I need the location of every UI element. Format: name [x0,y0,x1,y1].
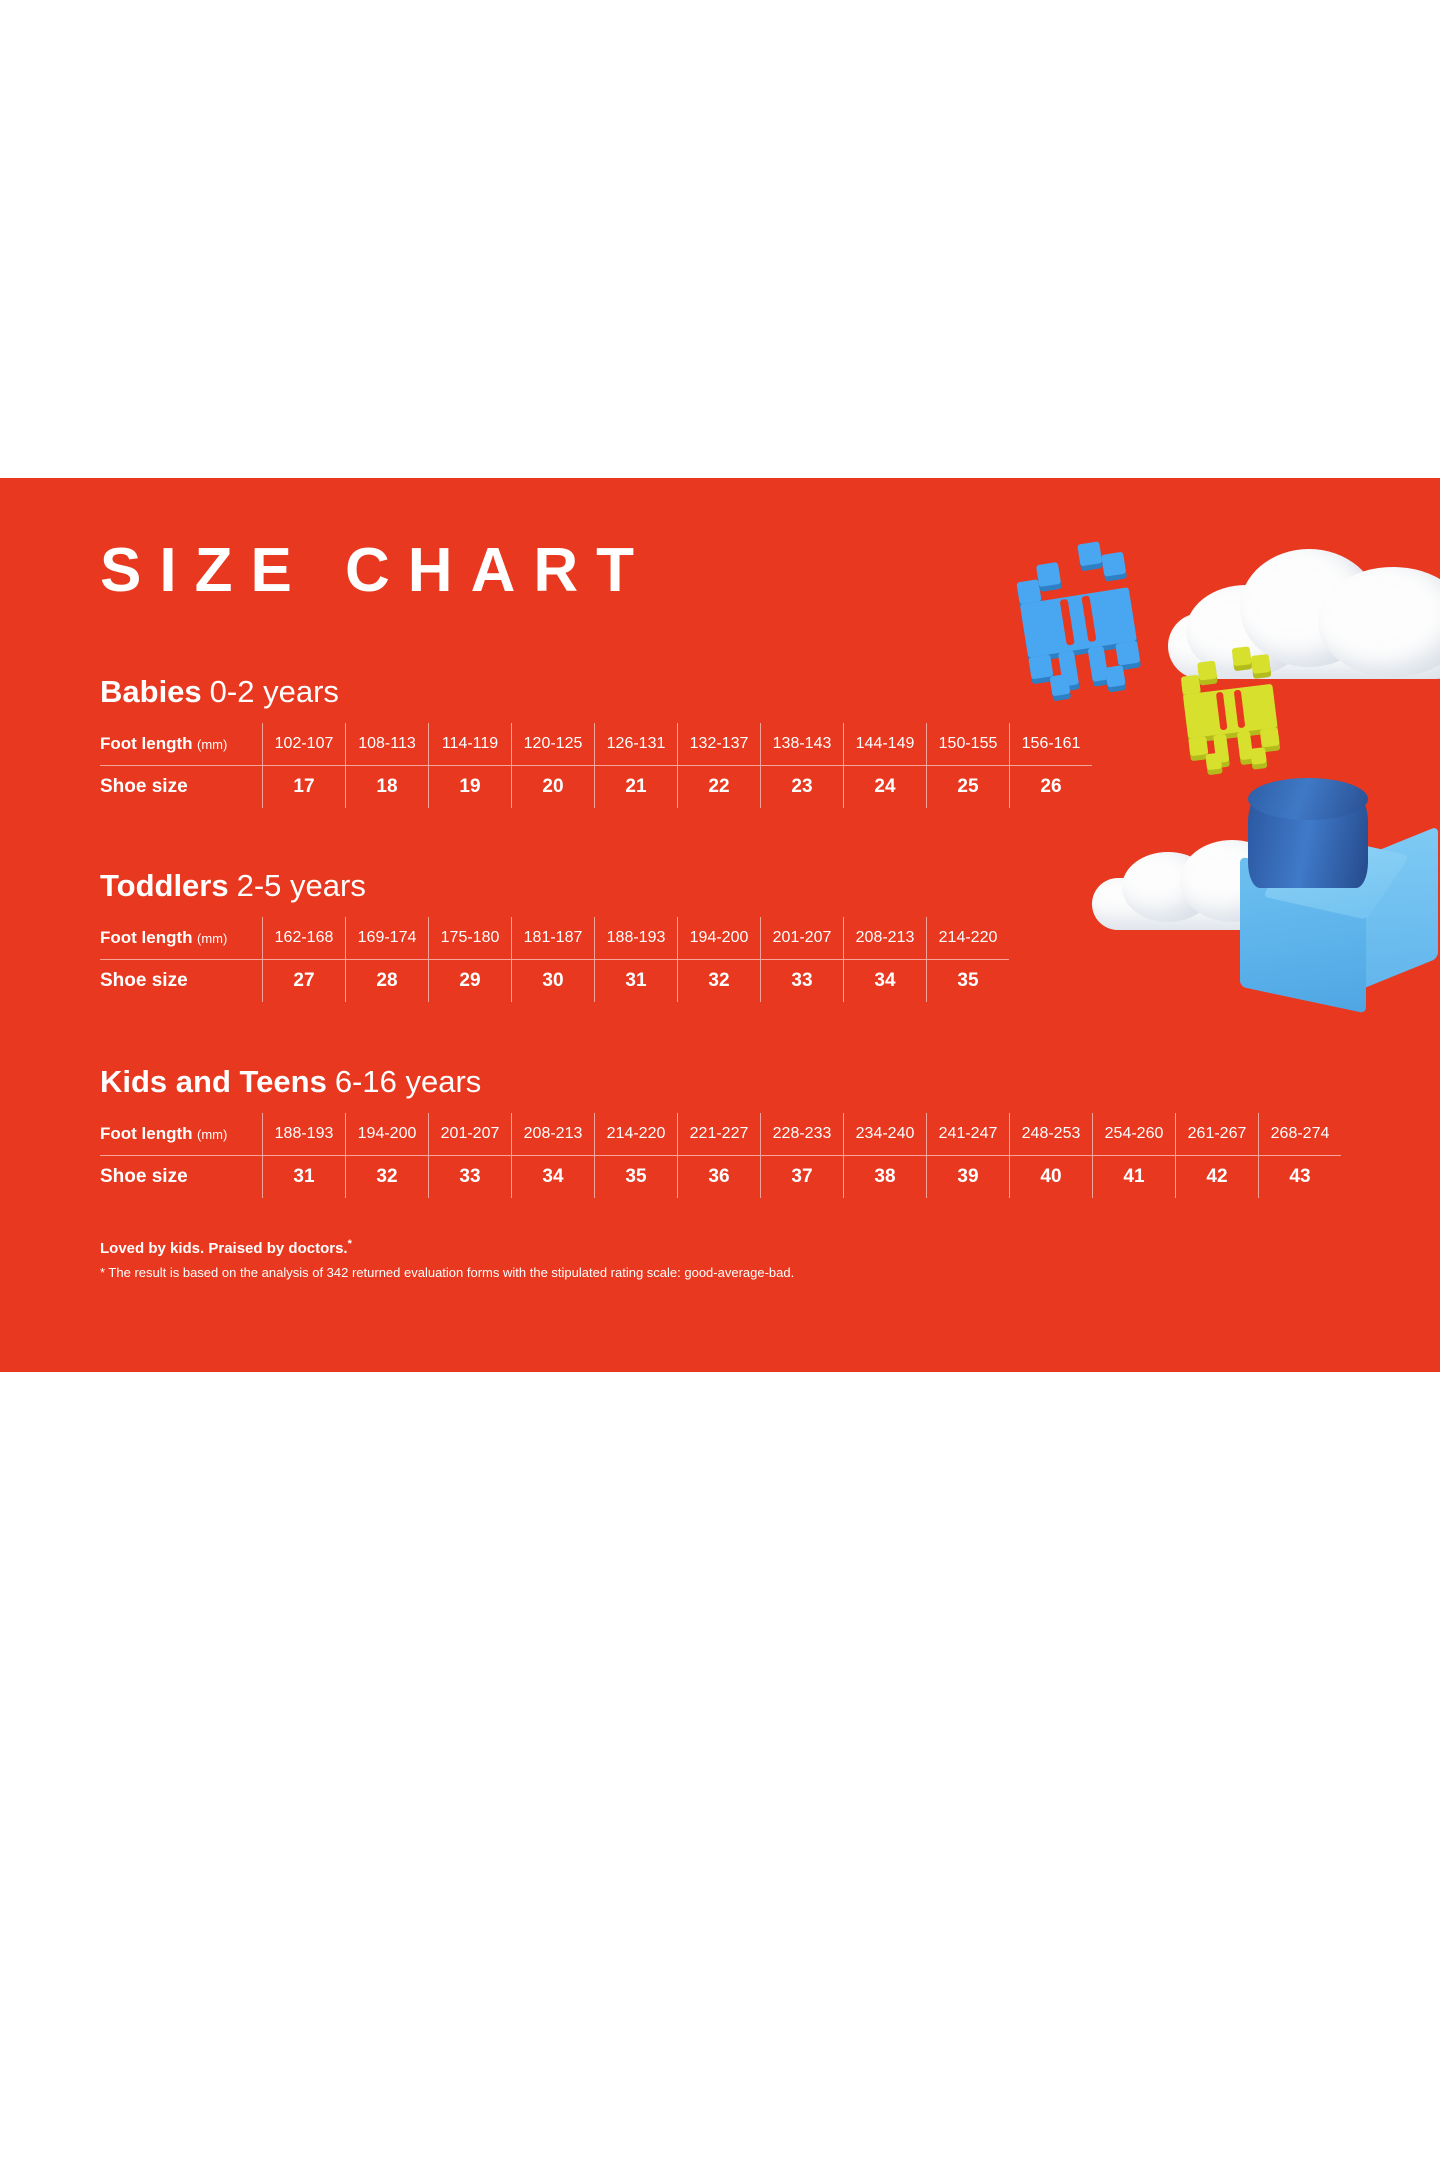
size-table-kids-and-teens: Foot length (mm) 188-193 194-200 201-207… [100,1113,1341,1198]
cell-foot-length: 175-180 [429,917,512,960]
cell-shoe-size: 34 [844,960,927,1003]
cell-foot-length: 228-233 [761,1113,844,1156]
row-label-shoe-size-text: Shoe size [100,776,188,797]
cell-foot-length: 214-220 [595,1113,678,1156]
cell-shoe-size: 31 [263,1156,346,1199]
cell-foot-length: 169-174 [346,917,429,960]
cell-shoe-size: 17 [263,766,346,809]
row-label-foot-length-text: Foot length [100,734,193,753]
footer-claim-text: Loved by kids. Praised by doctors. [100,1240,348,1257]
row-label-foot-length-text: Foot length [100,928,193,947]
section-kids-and-teens: Kids and Teens6-16 years Foot length (mm… [100,1066,1341,1198]
cell-foot-length: 194-200 [346,1113,429,1156]
cell-foot-length: 132-137 [678,723,761,766]
section-group-name: Kids and Teens [100,1064,327,1099]
cell-shoe-size: 32 [346,1156,429,1199]
cell-shoe-size: 32 [678,960,761,1003]
row-label-shoe-size: Shoe size [100,1156,263,1199]
section-heading-babies: Babies0-2 years [100,676,1092,707]
cell-shoe-size: 28 [346,960,429,1003]
section-age-range: 2-5 years [237,868,366,903]
cell-foot-length: 201-207 [429,1113,512,1156]
section-toddlers: Toddlers2-5 years Foot length (mm) 162-1… [100,870,1009,1002]
cell-shoe-size: 23 [761,766,844,809]
cell-foot-length: 221-227 [678,1113,761,1156]
cell-shoe-size: 27 [263,960,346,1003]
section-heading-kids-and-teens: Kids and Teens6-16 years [100,1066,1341,1097]
cell-shoe-size: 37 [761,1156,844,1199]
section-babies: Babies0-2 years Foot length (mm) 102-107… [100,676,1092,808]
footer-claim: Loved by kids. Praised by doctors.* [100,1238,794,1258]
cell-foot-length: 120-125 [512,723,595,766]
cell-shoe-size: 33 [429,1156,512,1199]
cell-foot-length: 248-253 [1010,1113,1093,1156]
row-label-foot-length-text: Foot length [100,1124,193,1143]
cell-shoe-size: 29 [429,960,512,1003]
row-label-shoe-size: Shoe size [100,960,263,1003]
row-label-foot-length: Foot length (mm) [100,1113,263,1156]
cell-shoe-size: 25 [927,766,1010,809]
table-row-shoe-size: Shoe size 17 18 19 20 21 22 23 24 25 26 [100,766,1092,809]
cell-foot-length: 162-168 [263,917,346,960]
cell-foot-length: 254-260 [1093,1113,1176,1156]
cell-foot-length: 201-207 [761,917,844,960]
section-group-name: Toddlers [100,868,229,903]
cell-shoe-size: 35 [595,1156,678,1199]
cell-shoe-size: 20 [512,766,595,809]
cell-foot-length: 126-131 [595,723,678,766]
cell-shoe-size: 26 [1010,766,1093,809]
size-table-babies: Foot length (mm) 102-107 108-113 114-119… [100,723,1092,808]
row-label-shoe-size-text: Shoe size [100,1166,188,1187]
table-row-shoe-size: Shoe size 27 28 29 30 31 32 33 34 35 [100,960,1009,1003]
row-label-shoe-size-text: Shoe size [100,970,188,991]
table-row-foot-length: Foot length (mm) 102-107 108-113 114-119… [100,723,1092,766]
footer-note: * The result is based on the analysis of… [100,1265,794,1281]
cell-foot-length: 214-220 [927,917,1010,960]
cell-foot-length: 208-213 [512,1113,595,1156]
cell-foot-length: 194-200 [678,917,761,960]
cell-foot-length: 108-113 [346,723,429,766]
cell-shoe-size: 40 [1010,1156,1093,1199]
cell-foot-length: 138-143 [761,723,844,766]
footer: Loved by kids. Praised by doctors.* * Th… [100,1238,794,1281]
cell-foot-length: 208-213 [844,917,927,960]
section-heading-toddlers: Toddlers2-5 years [100,870,1009,901]
cell-foot-length: 181-187 [512,917,595,960]
cell-shoe-size: 43 [1259,1156,1342,1199]
cell-shoe-size: 36 [678,1156,761,1199]
cell-shoe-size: 34 [512,1156,595,1199]
cell-foot-length: 144-149 [844,723,927,766]
row-label-foot-length: Foot length (mm) [100,917,263,960]
section-group-name: Babies [100,674,202,709]
cell-foot-length: 234-240 [844,1113,927,1156]
cell-shoe-size: 22 [678,766,761,809]
row-label-foot-length: Foot length (mm) [100,723,263,766]
row-label-shoe-size: Shoe size [100,766,263,809]
table-row-foot-length: Foot length (mm) 162-168 169-174 175-180… [100,917,1009,960]
cell-shoe-size: 31 [595,960,678,1003]
cell-foot-length: 150-155 [927,723,1010,766]
cell-foot-length: 156-161 [1010,723,1093,766]
cell-foot-length: 261-267 [1176,1113,1259,1156]
cell-foot-length: 241-247 [927,1113,1010,1156]
cell-foot-length: 268-274 [1259,1113,1342,1156]
cloud-bottom-icon [1092,838,1322,934]
row-label-foot-length-unit: (mm) [197,1127,227,1142]
row-label-foot-length-unit: (mm) [197,737,227,752]
cloud-top-icon [1168,547,1440,682]
cell-shoe-size: 24 [844,766,927,809]
cell-shoe-size: 35 [927,960,1010,1003]
cell-shoe-size: 19 [429,766,512,809]
cell-shoe-size: 30 [512,960,595,1003]
cell-shoe-size: 21 [595,766,678,809]
row-label-foot-length-unit: (mm) [197,931,227,946]
footer-claim-marker: * [348,1238,352,1250]
section-age-range: 0-2 years [210,674,339,709]
cell-shoe-size: 33 [761,960,844,1003]
cell-foot-length: 102-107 [263,723,346,766]
section-age-range: 6-16 years [335,1064,481,1099]
table-row-shoe-size: Shoe size 31 32 33 34 35 36 37 38 39 40 … [100,1156,1341,1199]
cell-foot-length: 188-193 [263,1113,346,1156]
cell-shoe-size: 18 [346,766,429,809]
size-table-toddlers: Foot length (mm) 162-168 169-174 175-180… [100,917,1009,1002]
size-chart-poster: SIZE CHART Babies0-2 years Foot length (… [0,478,1440,1372]
toy-block-icon [1210,778,1440,1008]
cell-shoe-size: 38 [844,1156,927,1199]
page-title: SIZE CHART [100,540,652,602]
table-row-foot-length: Foot length (mm) 188-193 194-200 201-207… [100,1113,1341,1156]
cell-shoe-size: 41 [1093,1156,1176,1199]
cell-foot-length: 114-119 [429,723,512,766]
cell-shoe-size: 42 [1176,1156,1259,1199]
cell-foot-length: 188-193 [595,917,678,960]
cell-shoe-size: 39 [927,1156,1010,1199]
